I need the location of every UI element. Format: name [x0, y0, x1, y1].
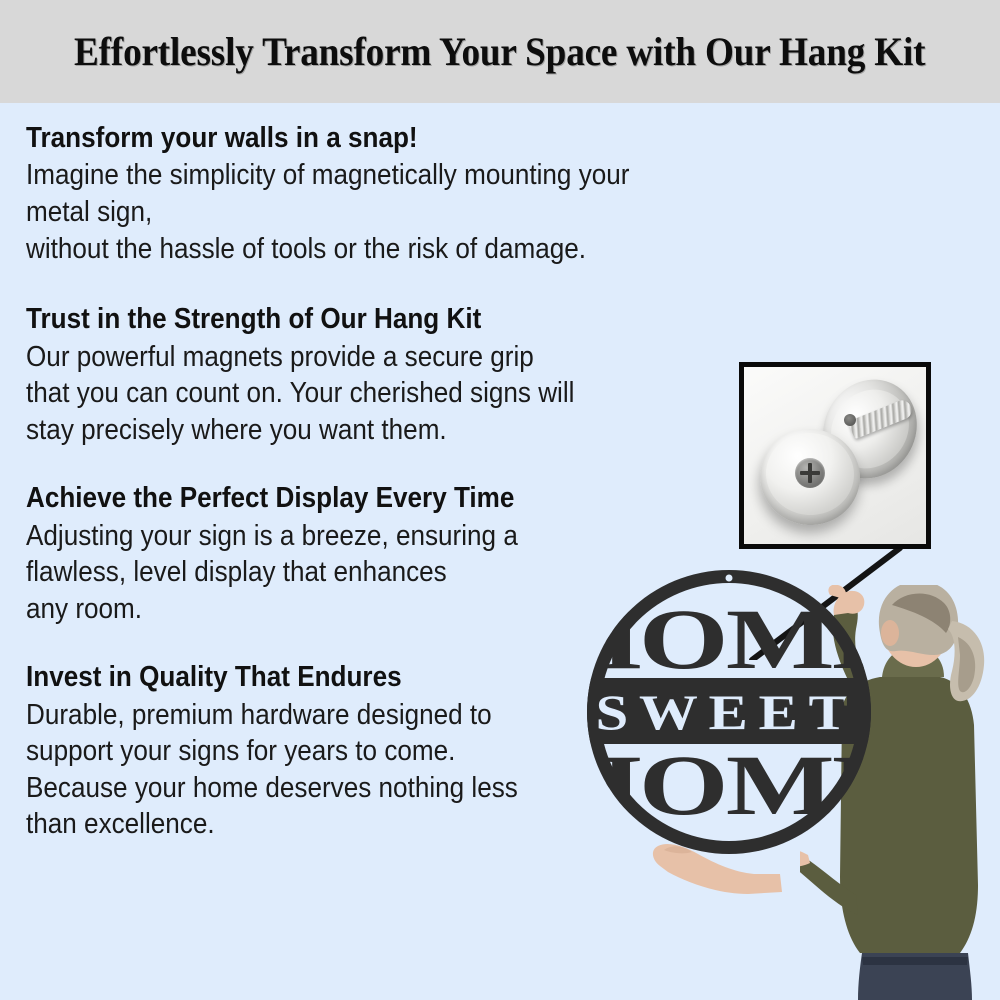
- home-sweet-home-sign: HOME SWEET HOME: [583, 566, 875, 858]
- section-heading: Trust in the Strength of Our Hang Kit: [26, 303, 656, 335]
- promo-infographic: Effortlessly Transform Your Space with O…: [0, 0, 1000, 1000]
- section-body: Our powerful magnets provide a secure gr…: [26, 339, 656, 449]
- sign-mount-hole: [726, 575, 733, 582]
- section-heading: Transform your walls in a snap!: [26, 122, 656, 154]
- header-banner: Effortlessly Transform Your Space with O…: [0, 0, 1000, 103]
- section-transform-walls: Transform your walls in a snap! Imagine …: [26, 122, 726, 267]
- page-title: Effortlessly Transform Your Space with O…: [74, 32, 925, 72]
- section-body: Imagine the simplicity of magnetically m…: [26, 157, 656, 267]
- magnet-photo-background: [744, 367, 926, 544]
- section-body: Durable, premium hardware designed to su…: [26, 697, 656, 843]
- section-body: Adjusting your sign is a breeze, ensurin…: [26, 518, 656, 628]
- sign-metal-body: [583, 566, 875, 858]
- screw-tip-icon: [844, 414, 856, 426]
- magnet-inset-photo: [739, 362, 931, 549]
- supporting-hand: [650, 820, 790, 910]
- section-trust-strength: Trust in the Strength of Our Hang Kit Ou…: [26, 303, 726, 448]
- section-heading: Achieve the Perfect Display Every Time: [26, 482, 656, 514]
- phillips-screw-icon: [795, 458, 825, 488]
- section-heading: Invest in Quality That Endures: [26, 661, 656, 693]
